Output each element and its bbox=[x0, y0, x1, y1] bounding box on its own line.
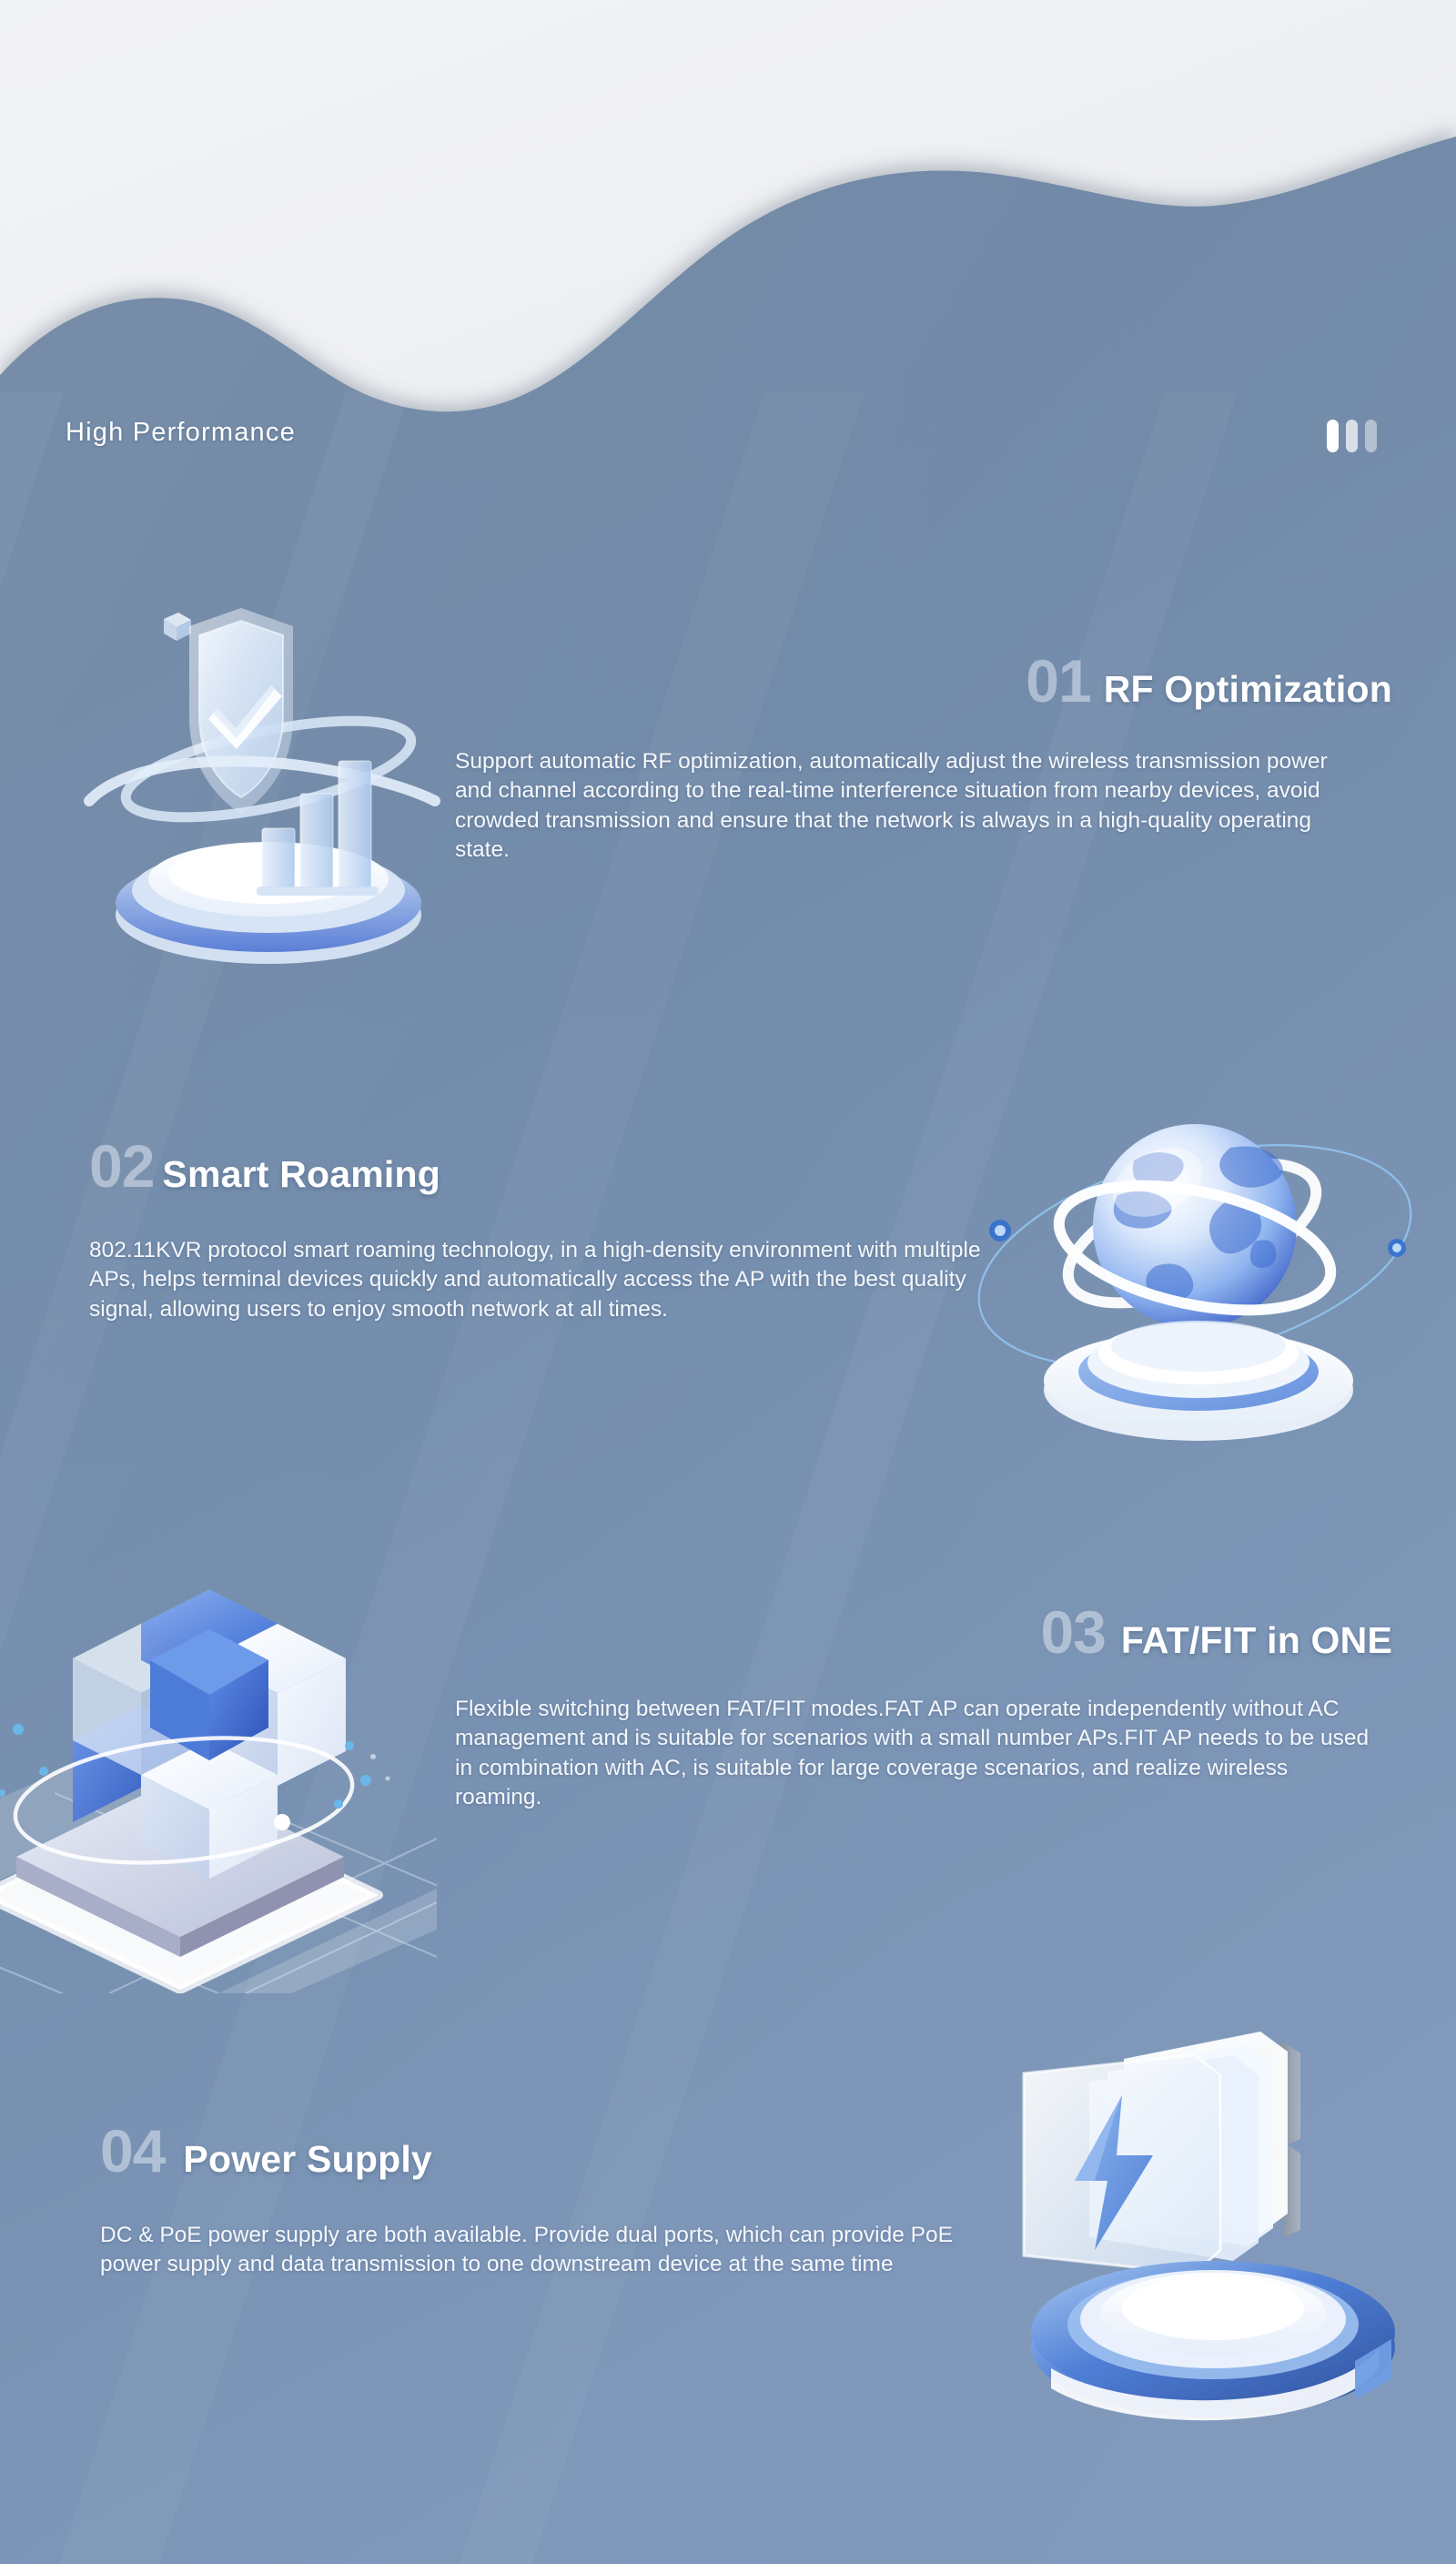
isometric-cubes-platform-illustration bbox=[0, 1566, 437, 1993]
feature-heading-01: 01 RF Optimization bbox=[428, 651, 1392, 711]
three-bars-icon bbox=[1327, 420, 1377, 452]
page-root: High Performance bbox=[0, 0, 1456, 2564]
feature-title-03: FAT/FIT in ONE bbox=[1121, 1622, 1392, 1659]
feature-block-04: 04 Power Supply DC & PoE power supply ar… bbox=[100, 2121, 1019, 2280]
feature-block-01: 01 RF Optimization Support automatic RF … bbox=[428, 651, 1392, 865]
bar-2 bbox=[1346, 420, 1358, 452]
feature-number-04: 04 bbox=[100, 2121, 165, 2181]
feature-block-03: 03 FAT/FIT in ONE Flexible switching bet… bbox=[428, 1602, 1392, 1812]
content-layer: High Performance bbox=[0, 0, 1456, 2564]
bar-3 bbox=[1365, 420, 1377, 452]
feature-title-04: Power Supply bbox=[183, 2141, 432, 2178]
feature-block-02: 02 Smart Roaming 802.11KVR protocol smar… bbox=[89, 1136, 1008, 1324]
page-header: High Performance bbox=[66, 414, 1390, 456]
feature-number-01: 01 bbox=[1026, 651, 1090, 711]
globe-orbit-podium-illustration bbox=[965, 1088, 1420, 1479]
feature-body-02: 802.11KVR protocol smart roaming technol… bbox=[89, 1236, 1004, 1324]
feature-title-01: RF Optimization bbox=[1104, 671, 1392, 708]
feature-heading-03: 03 FAT/FIT in ONE bbox=[428, 1602, 1392, 1662]
feature-body-04: DC & PoE power supply are both available… bbox=[100, 2221, 1010, 2280]
feature-body-01: Support automatic RF optimization, autom… bbox=[455, 747, 1365, 865]
feature-body-03: Flexible switching between FAT/FIT modes… bbox=[455, 1695, 1374, 1812]
feature-heading-04: 04 Power Supply bbox=[100, 2121, 1019, 2181]
battery-bolt-ring-illustration bbox=[987, 2012, 1433, 2430]
feature-number-02: 02 bbox=[89, 1136, 154, 1196]
feature-number-03: 03 bbox=[1040, 1602, 1105, 1662]
bar-1 bbox=[1327, 420, 1339, 452]
feature-title-02: Smart Roaming bbox=[162, 1156, 440, 1193]
shield-check-chart-podium-illustration bbox=[73, 573, 464, 974]
feature-heading-02: 02 Smart Roaming bbox=[89, 1136, 1008, 1196]
page-title: High Performance bbox=[66, 414, 296, 451]
